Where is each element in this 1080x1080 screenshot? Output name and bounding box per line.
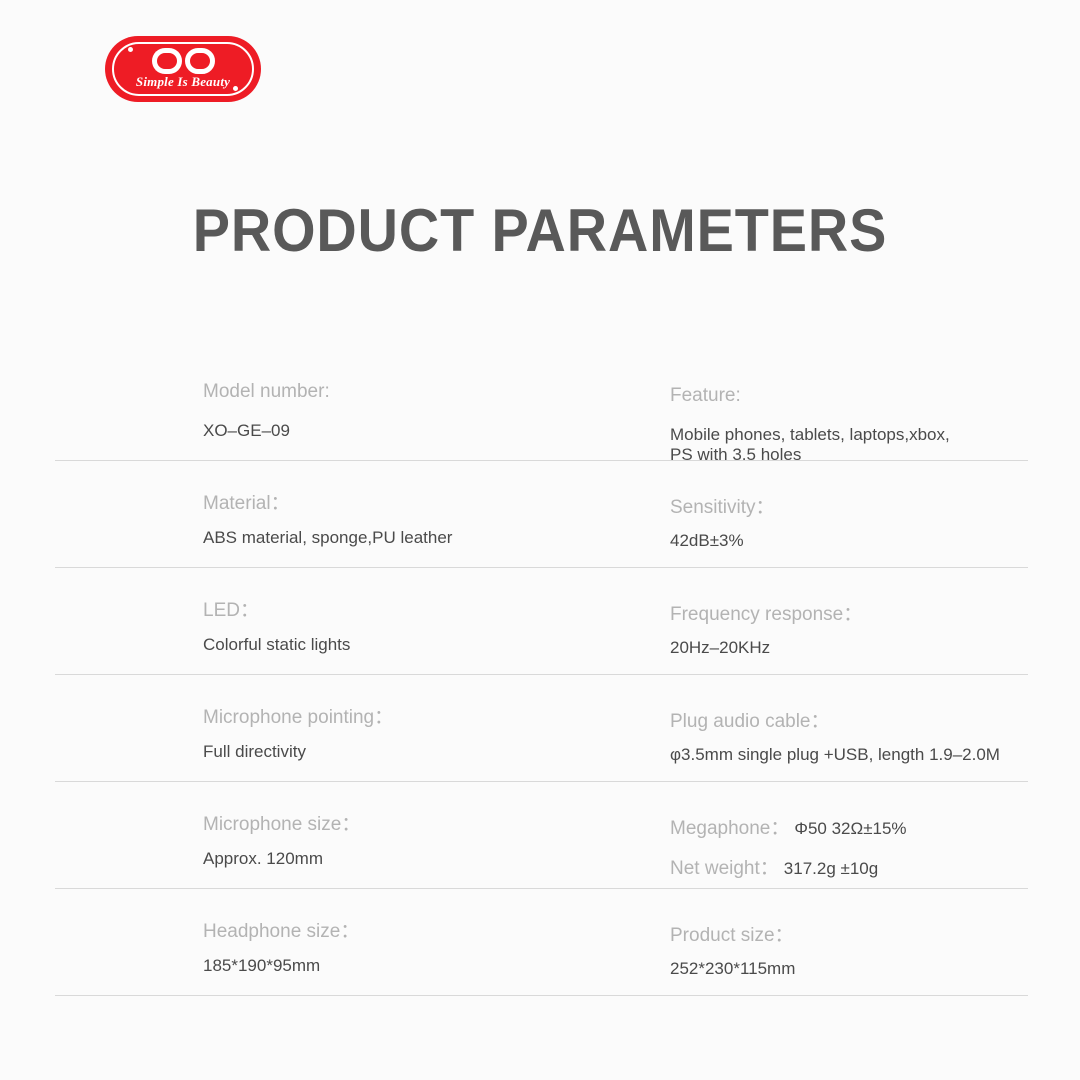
spec-value: ABS material, sponge,PU leather	[203, 529, 452, 546]
logo-x-icon	[152, 48, 182, 74]
spec-value: XO–GE–09	[203, 422, 290, 439]
spec-cell-model-number: Model number: XO–GE–09	[203, 354, 663, 460]
logo-pill-shape: Simple Is Beauty	[105, 36, 261, 102]
spec-label: Net weight：	[670, 858, 779, 879]
spec-cell-microphone-pointing: Microphone pointing： Full directivity	[203, 675, 663, 781]
spec-label: Plug audio cable：	[670, 706, 830, 733]
spec-cell-frequency-response: Frequency response： 20Hz–20KHz	[670, 568, 1070, 674]
spec-cell-microphone-size: Microphone size： Approx. 120mm	[203, 782, 663, 888]
logo-xo-mark	[105, 47, 261, 75]
logo-o-icon	[185, 48, 215, 74]
spec-pair-net-weight: Net weight：317.2g ±10g	[670, 853, 878, 880]
spec-value: Full directivity	[203, 743, 306, 760]
spec-cell-material: Material： ABS material, sponge,PU leathe…	[203, 461, 663, 567]
spec-value: 185*190*95mm	[203, 957, 320, 974]
spec-label: Product size：	[670, 920, 794, 947]
spec-cell-product-size: Product size： 252*230*115mm	[670, 889, 1070, 995]
table-row: LED： Colorful static lights Frequency re…	[55, 568, 1028, 675]
logo-tagline: Simple Is Beauty	[105, 74, 261, 90]
spec-cell-led: LED： Colorful static lights	[203, 568, 663, 674]
page-title: PRODUCT PARAMETERS	[38, 196, 1042, 265]
product-parameters-page: Simple Is Beauty PRODUCT PARAMETERS Mode…	[0, 0, 1080, 1080]
spec-value: 317.2g ±10g	[784, 859, 878, 878]
spec-label: Model number:	[203, 381, 330, 403]
spec-label: Frequency response：	[670, 599, 862, 626]
spec-cell-plug-audio-cable: Plug audio cable： φ3.5mm single plug +US…	[670, 675, 1070, 781]
spec-cell-sensitivity: Sensitivity： 42dB±3%	[670, 461, 1070, 567]
spec-label: Microphone pointing：	[203, 702, 393, 729]
spec-label: Megaphone：	[670, 818, 789, 839]
spec-cell-feature: Feature: Mobile phones, tablets, laptops…	[670, 354, 1070, 460]
table-row: Headphone size： 185*190*95mm Product siz…	[55, 889, 1028, 996]
spec-value: 20Hz–20KHz	[670, 639, 770, 656]
spec-label: Headphone size：	[203, 916, 359, 943]
spec-value: 42dB±3%	[670, 532, 744, 549]
spec-value: Approx. 120mm	[203, 850, 323, 867]
table-row: Microphone size： Approx. 120mm Megaphone…	[55, 782, 1028, 889]
table-row: Microphone pointing： Full directivity Pl…	[55, 675, 1028, 782]
spec-value: φ3.5mm single plug +USB, length 1.9–2.0M	[670, 746, 1000, 763]
spec-value: Colorful static lights	[203, 636, 350, 653]
spec-label: LED：	[203, 595, 259, 622]
spec-label: Sensitivity：	[670, 492, 775, 519]
brand-logo: Simple Is Beauty	[105, 36, 261, 102]
table-row: Model number: XO–GE–09 Feature: Mobile p…	[55, 354, 1028, 461]
spec-label: Material：	[203, 488, 290, 515]
spec-cell-headphone-size: Headphone size： 185*190*95mm	[203, 889, 663, 995]
spec-value: Φ50 32Ω±15%	[794, 819, 906, 838]
spec-label: Feature:	[670, 385, 741, 407]
spec-table: Model number: XO–GE–09 Feature: Mobile p…	[55, 354, 1028, 996]
spec-pair-megaphone: Megaphone：Φ50 32Ω±15%	[670, 813, 907, 840]
spec-label: Microphone size：	[203, 809, 360, 836]
spec-value: Mobile phones, tablets, laptops,xbox, PS…	[670, 425, 950, 464]
spec-value: 252*230*115mm	[670, 960, 795, 977]
table-row: Material： ABS material, sponge,PU leathe…	[55, 461, 1028, 568]
spec-cell-megaphone-net-weight: Megaphone：Φ50 32Ω±15% Net weight：317.2g …	[670, 782, 1070, 888]
